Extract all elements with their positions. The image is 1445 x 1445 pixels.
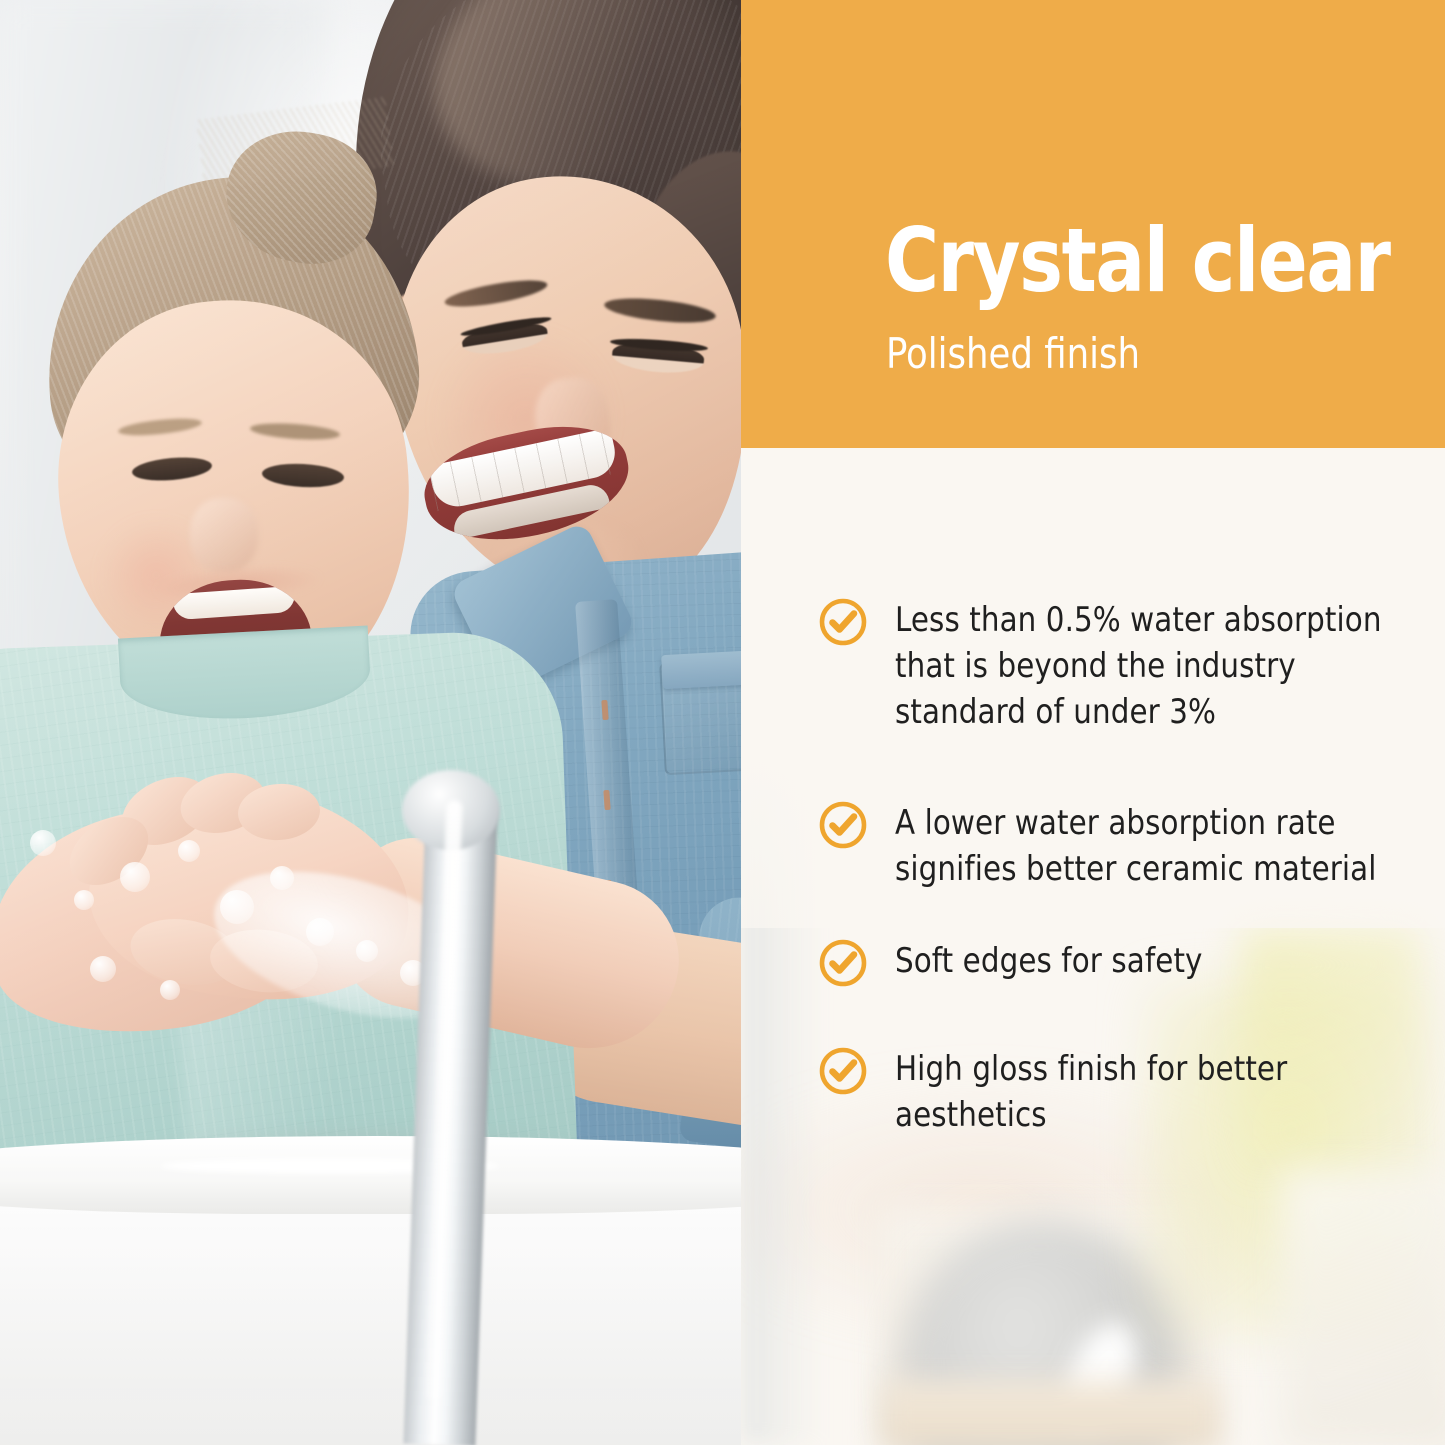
soap-bubble xyxy=(178,840,200,862)
child-upper-teeth xyxy=(172,586,296,620)
soap-bubble xyxy=(160,980,180,1000)
feature-text: A lower water absorption rate signifies … xyxy=(895,800,1416,892)
feature-item: A lower water absorption rate signifies … xyxy=(818,800,1438,892)
check-circle-icon xyxy=(818,800,868,850)
feature-item: Less than 0.5% water absorption that is … xyxy=(818,597,1438,735)
child-nose xyxy=(190,498,258,572)
basin-rim xyxy=(0,1136,741,1214)
soap-bubble xyxy=(220,890,254,924)
check-circle-icon xyxy=(818,938,868,988)
soap-bubble xyxy=(306,918,334,946)
soap-bubble xyxy=(120,862,150,892)
feature-text: Soft edges for safety xyxy=(895,938,1203,984)
soap-bubble xyxy=(90,956,116,982)
feature-text: Less than 0.5% water absorption that is … xyxy=(895,597,1416,735)
soap-bubble xyxy=(74,890,94,910)
soap-bubble xyxy=(30,830,56,856)
mother-shirt-pocket-flap xyxy=(661,649,741,689)
feature-text: High gloss finish for better aesthetics xyxy=(895,1046,1416,1138)
product-feature-banner: Crystal clear Polished finish Less than … xyxy=(0,0,1445,1445)
info-panel: Crystal clear Polished finish Less than … xyxy=(741,0,1445,1445)
feature-item: Soft edges for safety xyxy=(818,938,1438,988)
soap-bubble xyxy=(270,866,294,890)
lifestyle-photo xyxy=(0,0,741,1445)
feature-item: High gloss finish for better aesthetics xyxy=(818,1046,1438,1138)
soap-bubble xyxy=(356,940,378,962)
check-circle-icon xyxy=(818,1046,868,1096)
feature-list: Less than 0.5% water absorption that is … xyxy=(741,0,1445,1445)
check-circle-icon xyxy=(818,597,868,647)
